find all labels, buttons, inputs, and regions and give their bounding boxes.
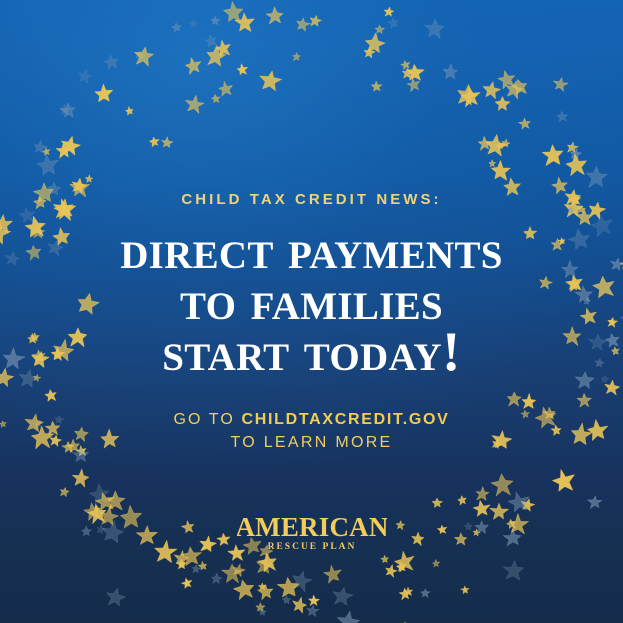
headline-line-3: start today!: [120, 327, 503, 378]
logo-primary-text: AMERICAN: [237, 512, 387, 542]
headline-line-2: to families: [120, 276, 503, 327]
logo-secondary-text: RESCUE PLAN: [267, 542, 356, 552]
poster-canvas: CHILD TAX CREDIT NEWS: Direct payments t…: [0, 0, 623, 623]
eyebrow-label: CHILD TAX CREDIT NEWS:: [181, 192, 441, 207]
logo-artwork: AMERICAN RESCUE PLAN: [237, 508, 387, 556]
cta-second-line: TO LEARN MORE: [173, 431, 449, 454]
american-rescue-plan-logo: AMERICAN RESCUE PLAN: [237, 508, 387, 556]
cta-prefix: GO TO: [173, 411, 241, 428]
headline: Direct payments to families start today!: [120, 225, 503, 378]
call-to-action: GO TO CHILDTAXCREDIT.GOV TO LEARN MORE: [173, 408, 449, 454]
cta-url-link[interactable]: CHILDTAXCREDIT.GOV: [241, 411, 449, 428]
headline-line-1: Direct payments: [120, 225, 503, 276]
